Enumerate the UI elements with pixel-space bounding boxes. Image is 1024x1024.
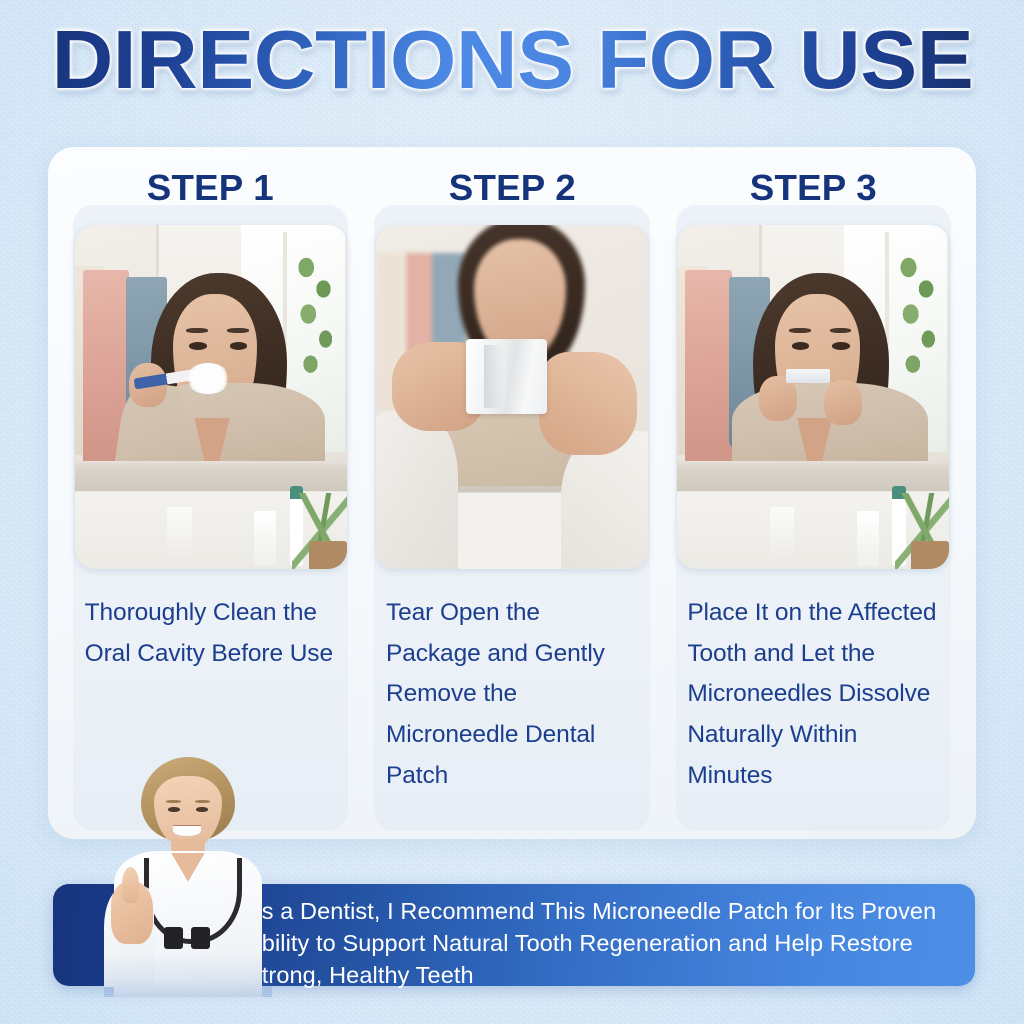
step-column-2: STEP 2 Tear Open the Package and Gently	[366, 147, 657, 839]
person-brow-right	[227, 328, 249, 333]
patch-package	[466, 339, 548, 415]
dentist-recommendation-text: As a Dentist, I Recommend This Microneed…	[246, 895, 961, 992]
page-title: DIRECTIONS FOR USE	[0, 18, 1024, 103]
toothpaste-foam	[186, 363, 230, 394]
person-brow-left	[186, 328, 208, 333]
photo-scene-opening-package	[376, 225, 648, 569]
dental-patch	[786, 369, 830, 383]
sleeve-left	[376, 411, 458, 569]
towel-pink	[685, 270, 731, 470]
counter-bottle	[167, 507, 191, 565]
steps-row: STEP 1	[48, 147, 976, 839]
dentist-figure	[104, 757, 272, 997]
step-caption-1: Thoroughly Clean the Oral Cavity Before …	[85, 593, 337, 674]
plant-pot	[911, 541, 949, 569]
hand-right	[824, 380, 862, 425]
step-title-3: STEP 3	[750, 167, 877, 209]
page-title-text: DIRECTIONS FOR USE	[51, 18, 973, 103]
step-caption-3: Place It on the Affected Tooth and Let t…	[687, 593, 939, 796]
dentist-eye-right	[196, 807, 208, 811]
hand-right	[539, 352, 637, 455]
dentist-loupe-left	[164, 927, 182, 949]
thumbs-up-icon	[122, 867, 139, 903]
plant-pot	[309, 541, 347, 569]
dentist-loupe-right	[191, 927, 209, 949]
step-title-2: STEP 2	[448, 167, 575, 209]
person-brow-left	[789, 328, 811, 333]
person-eye-right	[230, 342, 248, 350]
step-column-1: STEP 1	[65, 147, 356, 839]
step-column-3: STEP 3	[668, 147, 959, 839]
step-photo-2	[376, 225, 648, 569]
dentist-brow-right	[195, 800, 210, 803]
steps-card: STEP 1	[48, 147, 976, 839]
step-photo-1	[75, 225, 347, 569]
photo-scene-applying-patch	[677, 225, 949, 569]
person-eye-left	[189, 342, 207, 350]
counter-bottle	[770, 507, 794, 565]
counter-cup	[857, 511, 879, 566]
step-caption-2: Tear Open the Package and Gently Remove …	[386, 593, 638, 796]
person-eye-right	[832, 342, 850, 350]
person-eye-left	[792, 342, 810, 350]
photo-scene-brushing	[75, 225, 347, 569]
step-photo-3	[677, 225, 949, 569]
dentist-brow-left	[166, 800, 181, 803]
counter-cup	[254, 511, 276, 566]
dentist-bottom-fade	[104, 954, 272, 997]
hand-left	[759, 376, 797, 421]
dentist-eye-left	[168, 807, 180, 811]
step-title-1: STEP 1	[147, 167, 274, 209]
dentist-smile	[173, 825, 202, 836]
